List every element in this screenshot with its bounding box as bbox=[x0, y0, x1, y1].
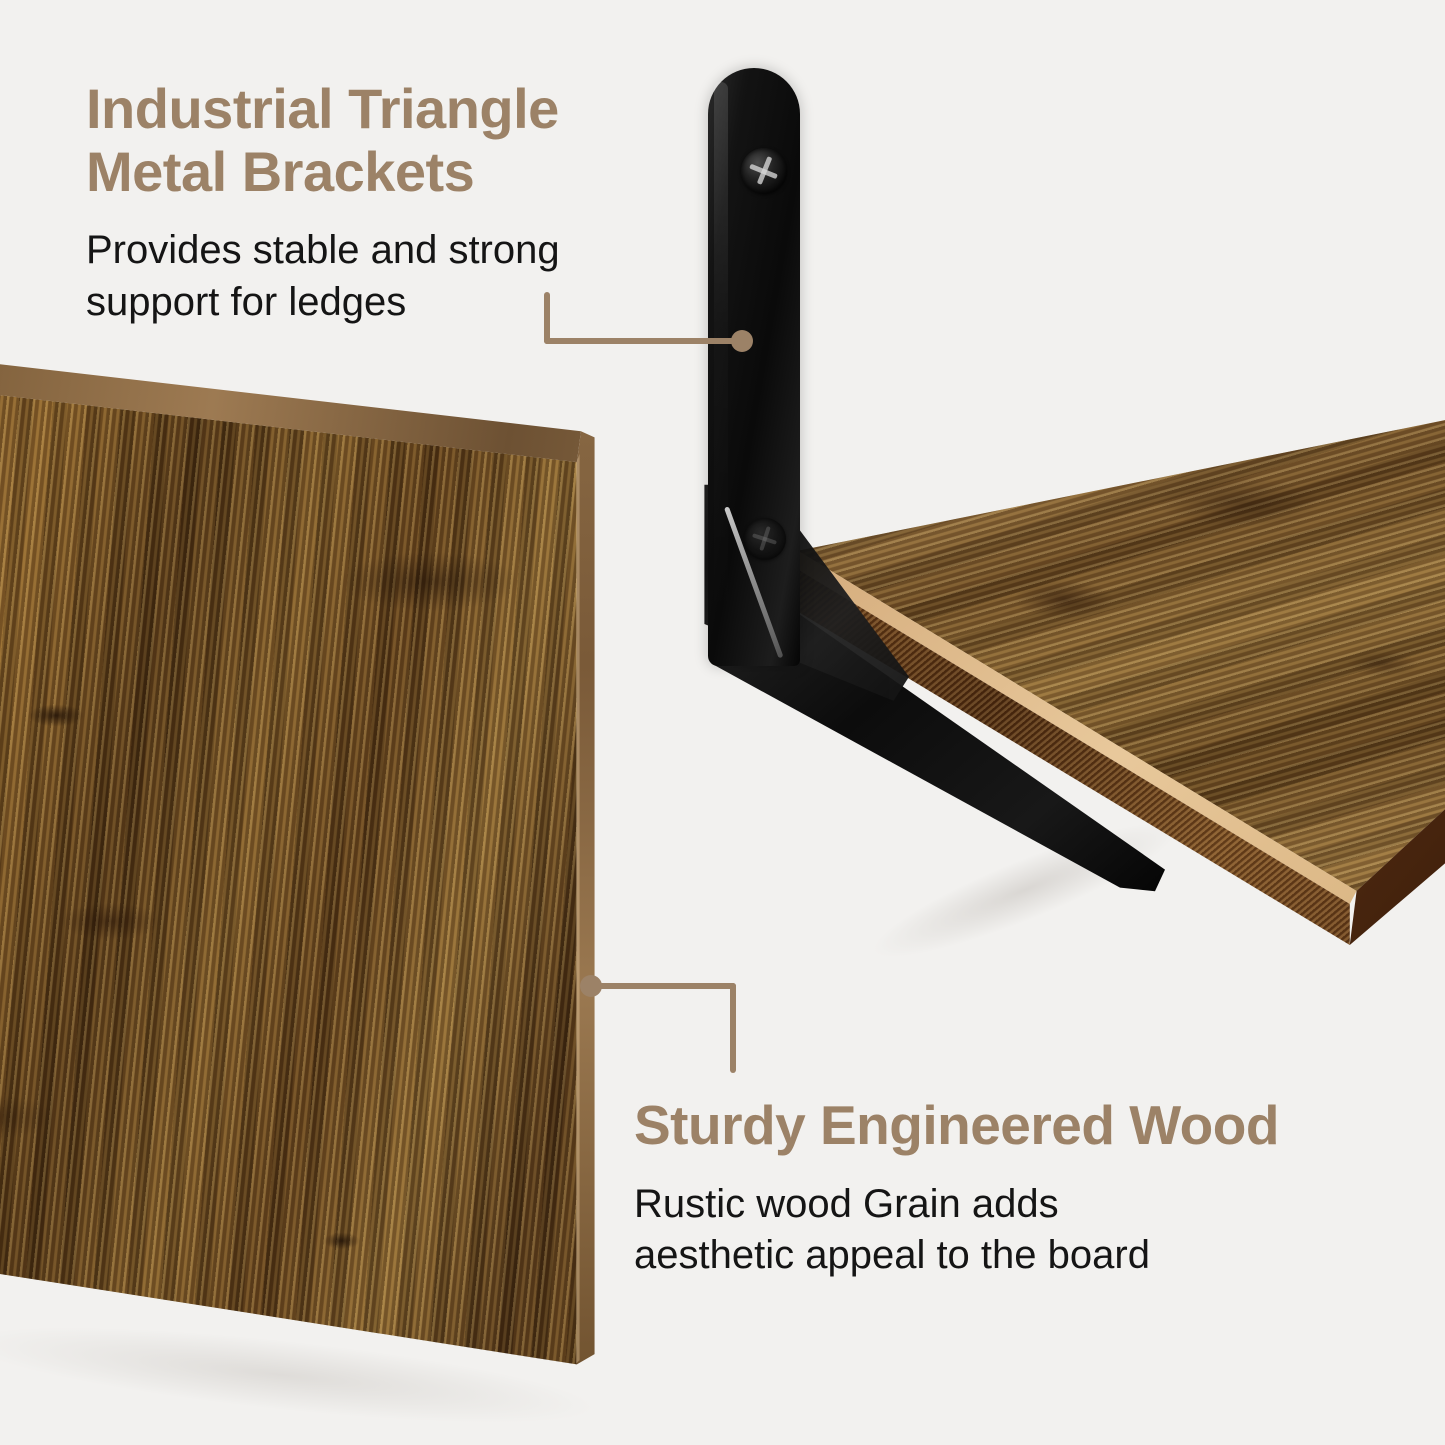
leader-segment-vertical bbox=[730, 983, 736, 1073]
callout-wood-headline: Sturdy Engineered Wood bbox=[634, 1095, 1424, 1157]
callout-brackets-subcopy: Provides stable and strong support for l… bbox=[86, 225, 726, 327]
leader-segment-horizontal bbox=[590, 983, 736, 989]
callout-brackets: Industrial Triangle Metal Brackets Provi… bbox=[86, 78, 726, 328]
callout-wood-subcopy: Rustic wood Grain adds aesthetic appeal … bbox=[634, 1179, 1424, 1281]
callout-wood: Sturdy Engineered Wood Rustic wood Grain… bbox=[634, 1095, 1424, 1281]
infographic-canvas: Industrial Triangle Metal Brackets Provi… bbox=[0, 0, 1445, 1445]
callout-brackets-headline: Industrial Triangle Metal Brackets bbox=[86, 78, 726, 203]
